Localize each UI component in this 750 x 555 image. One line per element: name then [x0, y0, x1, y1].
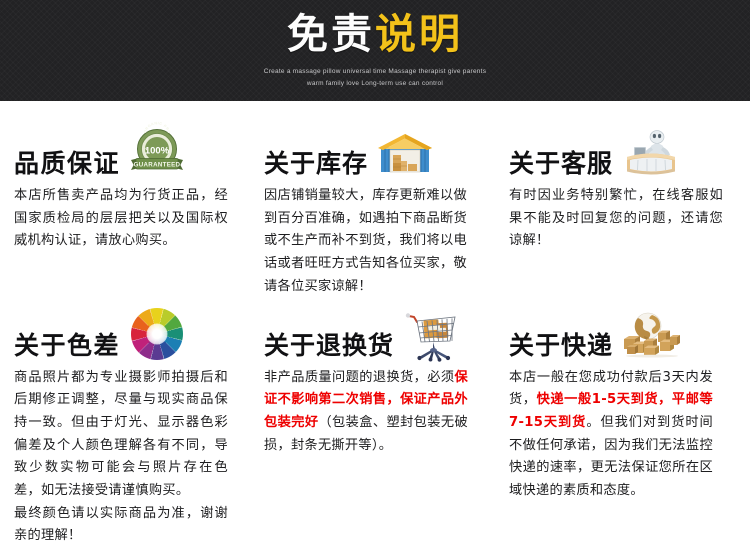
page-title-white: 免责	[287, 10, 375, 58]
color-wheel-spokes	[131, 308, 183, 360]
section-body-text: 本店所售卖产品均为行货正品，经国家质检局的层层把关以及国际权威机构认证，请放心购…	[14, 185, 228, 253]
service-desk-agent-icon	[622, 127, 680, 177]
section-header: 关于退换货	[264, 305, 509, 361]
section-header: 关于库存	[264, 123, 509, 179]
disclaimer-page: 免责说明 Create a massage pillow universal t…	[0, 0, 750, 555]
section-body: 本店所售卖产品均为行货正品，经国家质检局的层层把关以及国际权威机构认证，请放心购…	[14, 185, 228, 253]
section-header: 关于色差	[14, 305, 264, 361]
section-body: 非产品质量问题的退换货，必须保证不影响第二次销售，保证产品外包装完好（包装盒、塑…	[264, 367, 468, 458]
color-wheel-icon	[131, 308, 183, 360]
section-title: 关于快递	[509, 333, 613, 361]
section-header: 品质保证 ORGANIC PRODUCT	[14, 123, 264, 179]
section-body: 商品照片都为专业摄影师拍摄后和后期修正调整，尽量与现实商品保持一致。但由于灯光、…	[14, 367, 228, 549]
section-title: 品质保证	[14, 151, 120, 179]
page-subtitle: Create a massage pillow universal time M…	[264, 66, 486, 90]
section-about-inventory: 关于库存	[264, 123, 509, 299]
svg-text:GUARANTEED: GUARANTEED	[134, 161, 181, 168]
section-body-text: 有时因业务特别繁忙，在线客服如果不能及时回复您的问题，还请您谅解！	[509, 185, 723, 253]
section-about-color-difference: 关于色差 商品照片都为专业摄影师拍摄后和后期修正调整，尽量与现实商品保持一致。但…	[14, 305, 264, 549]
section-body: 有时因业务特别繁忙，在线客服如果不能及时回复您的问题，还请您谅解！	[509, 185, 723, 253]
globe-parcels-icon	[622, 311, 682, 357]
section-quality-guarantee: 品质保证 ORGANIC PRODUCT	[14, 123, 264, 299]
section-icon	[618, 309, 680, 361]
color-wheel-disc	[131, 308, 183, 360]
section-icon: ORGANIC PRODUCT 100% GUARANTEED	[125, 127, 187, 179]
section-title: 关于库存	[264, 151, 368, 179]
section-body-text: 因店铺销量较大，库存更新难以做到百分百准确，如遇拍下商品断货或不生产而补不到货，…	[264, 185, 467, 299]
section-body-text: 商品照片都为专业摄影师拍摄后和后期修正调整，尽量与现实商品保持一致。但由于灯光、…	[14, 367, 228, 503]
organic-100-percent-guaranteed-badge-icon: ORGANIC PRODUCT 100% GUARANTEED	[127, 127, 187, 179]
section-icon	[399, 309, 461, 361]
section-body-text-2: 最终颜色请以实际商品为准，谢谢亲的理解！	[14, 503, 228, 548]
page-title: 免责说明	[287, 11, 463, 59]
page-title-yellow: 说明	[375, 10, 463, 58]
section-title: 关于客服	[509, 151, 613, 179]
section-body: 本店一般在您成功付款后3天内发货，快递一般1-5天到货，平邮等7-15天到货。但…	[509, 367, 713, 503]
page-subtitle-line-2: warm family love Long-term use can contr…	[264, 78, 486, 90]
section-body-text: 非产品质量问题的退换货，必须保证不影响第二次销售，保证产品外包装完好（包装盒、塑…	[264, 367, 468, 458]
page-header: 免责说明 Create a massage pillow universal t…	[0, 0, 750, 101]
section-about-customer-service: 关于客服	[509, 123, 736, 299]
section-header: 关于客服	[509, 123, 736, 179]
body-text-part-1: 非产品质量问题的退换货，必须	[264, 370, 455, 385]
section-header: 关于快递	[509, 305, 736, 361]
section-icon	[373, 127, 435, 179]
shopping-cart-icon	[403, 309, 463, 361]
section-title: 关于退换货	[264, 333, 394, 361]
section-title: 关于色差	[14, 333, 120, 361]
warehouse-icon	[377, 131, 433, 175]
disclaimer-grid: 品质保证 ORGANIC PRODUCT	[0, 101, 750, 548]
page-subtitle-line-1: Create a massage pillow universal time M…	[264, 66, 486, 78]
section-icon	[125, 309, 187, 361]
section-about-express-delivery: 关于快递	[509, 305, 736, 549]
section-body-text: 本店一般在您成功付款后3天内发货，快递一般1-5天到货，平邮等7-15天到货。但…	[509, 367, 713, 503]
section-body: 因店铺销量较大，库存更新难以做到百分百准确，如遇拍下商品断货或不生产而补不到货，…	[264, 185, 467, 299]
section-icon	[618, 127, 680, 179]
section-about-returns-exchanges: 关于退换货	[264, 305, 509, 549]
